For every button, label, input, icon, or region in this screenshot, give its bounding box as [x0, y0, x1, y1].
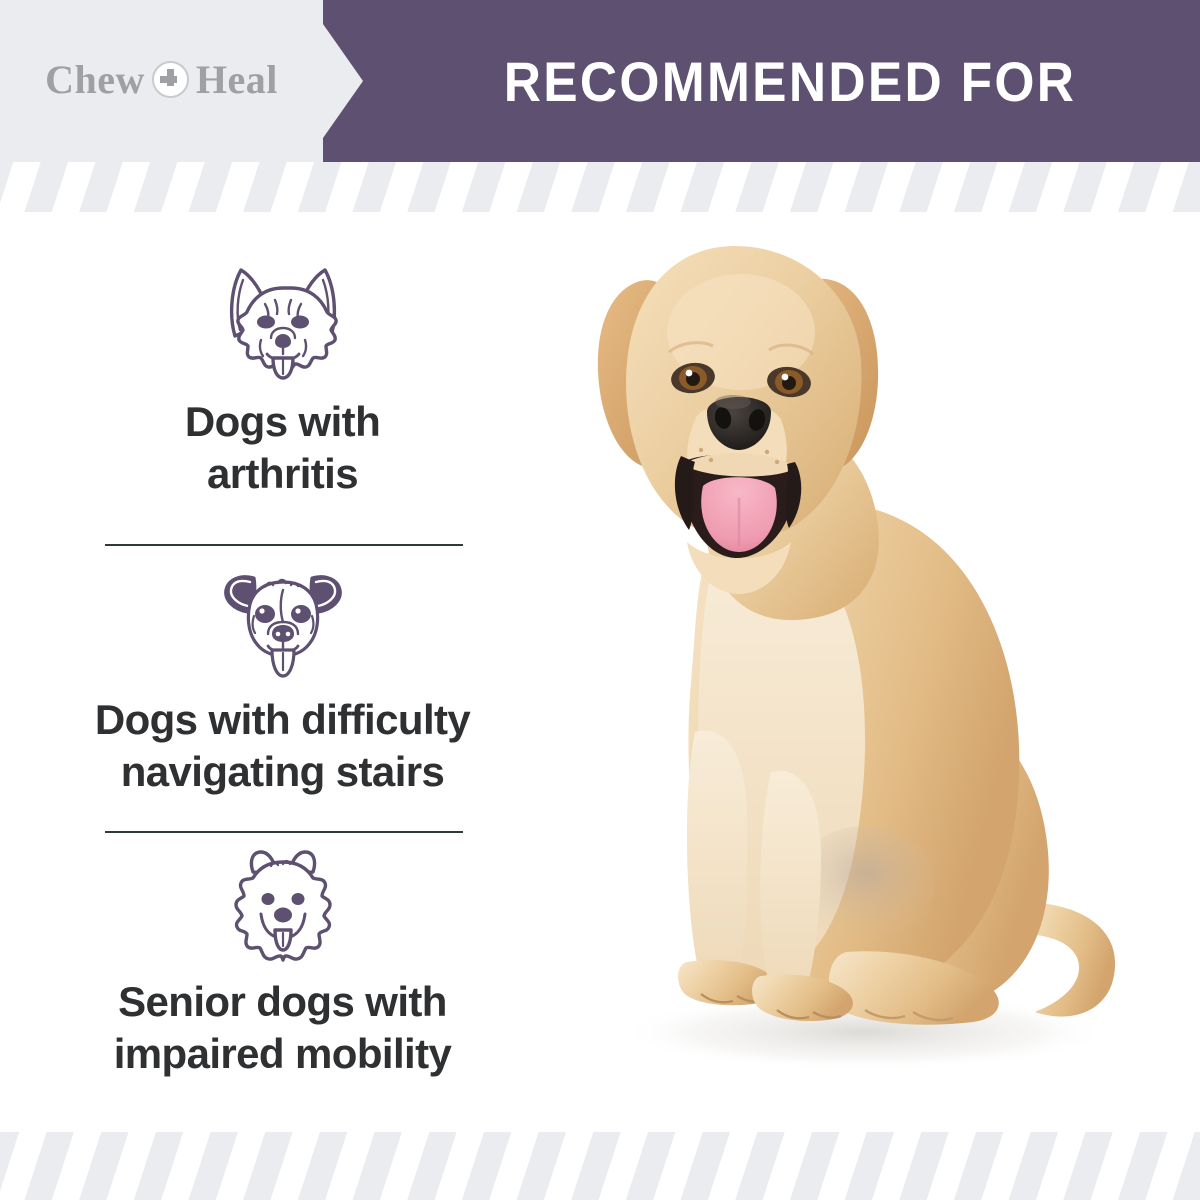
feature-item-senior: Senior dogs with impaired mobility [0, 834, 565, 1079]
features-column: Dogs with arthritis [0, 212, 565, 1132]
feature-divider [105, 544, 463, 546]
feature-label: Dogs with difficulty navigating stairs [0, 694, 565, 797]
feature-divider [105, 831, 463, 833]
brand-name-right: Heal [196, 56, 278, 103]
diagonal-stripes-bottom [0, 1132, 1200, 1200]
content-area: Dogs with arthritis [0, 212, 1200, 1132]
terrier-dog-face-icon [0, 552, 565, 680]
sitting-yellow-labrador-retriever-photo [565, 212, 1200, 1132]
feature-item-stairs: Dogs with difficulty navigating stairs [0, 552, 565, 797]
samoyed-dog-face-icon [0, 834, 565, 962]
page-title: RECOMMENDED FOR [413, 0, 1167, 162]
header-bar: Chew Heal RECOMMENDED FOR [0, 0, 1200, 162]
corgi-dog-face-icon [0, 254, 565, 382]
brand-name-left: Chew [45, 56, 145, 103]
feature-label: Senior dogs with impaired mobility [0, 976, 565, 1079]
recommended-for-infographic: Chew Heal RECOMMENDED FOR [0, 0, 1200, 1200]
feature-label: Dogs with arthritis [0, 396, 565, 499]
circle-plus-icon [152, 61, 189, 98]
banner-chevron-notch [323, 24, 363, 138]
diagonal-stripes-top [0, 162, 1200, 212]
brand-logo[interactable]: Chew Heal [0, 0, 323, 162]
feature-item-arthritis: Dogs with arthritis [0, 254, 565, 499]
